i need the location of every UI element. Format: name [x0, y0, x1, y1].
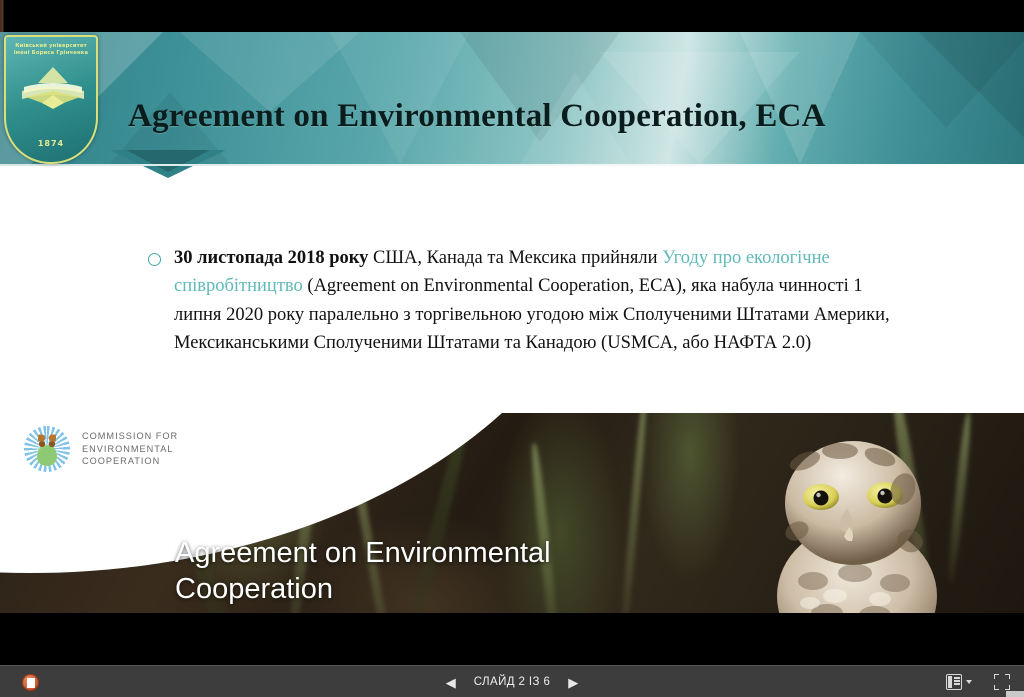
crest-year: 1874	[6, 139, 96, 148]
cec-line-3: COOPERATION	[82, 455, 178, 468]
slideshow-toolbar: P ◀ СЛАЙД 2 ІЗ 6 ▶	[0, 665, 1024, 697]
banner-underline	[0, 164, 1024, 166]
slide-navigation: ◀ СЛАЙД 2 ІЗ 6 ▶	[0, 666, 1024, 697]
banner-notch-inner	[126, 150, 210, 172]
university-crest-logo: Київський університет імені Бориса Грінч…	[4, 35, 98, 164]
crest-text: Київський університет імені Бориса Грінч…	[6, 43, 96, 57]
toolbar-right-tools	[946, 666, 1010, 697]
circle-outline-bullet-icon	[148, 253, 161, 266]
cec-logo-text: COMMISSION FOR ENVIRONMENTAL COOPERATION	[82, 430, 178, 468]
slide-body: 30 листопада 2018 року США, Канада та Ме…	[148, 244, 908, 358]
cec-logo: COMMISSION FOR ENVIRONMENTAL COOPERATION	[24, 426, 178, 472]
slide-header-banner: Agreement on Environmental Cooperation, …	[0, 32, 1024, 164]
cec-butterfly-shape	[38, 434, 56, 447]
chevron-down-icon	[966, 680, 972, 684]
slide-counter-label: СЛАЙД 2 ІЗ 6	[474, 676, 551, 688]
cec-leaf-shape	[37, 446, 57, 466]
previous-slide-button[interactable]: ◀	[446, 676, 456, 689]
bullet-text: 30 листопада 2018 року США, Канада та Ме…	[174, 244, 908, 358]
reading-view-icon	[946, 674, 962, 690]
reading-view-button[interactable]	[946, 674, 972, 690]
bullet-plain-1: США, Канада та Мексика прийняли	[368, 248, 662, 268]
crest-book-icon	[20, 67, 86, 109]
page-title: Agreement on Environmental Cooperation, …	[128, 98, 826, 135]
next-slide-button[interactable]: ▶	[568, 676, 578, 689]
bullet-item: 30 листопада 2018 року США, Канада та Ме…	[148, 244, 908, 358]
bullet-bold-lead: 30 листопада 2018 року	[174, 248, 368, 268]
cec-line-2: ENVIRONMENTAL	[82, 443, 178, 456]
fullscreen-icon[interactable]	[994, 674, 1010, 690]
slide-canvas[interactable]: Agreement on Environmental Cooperation, …	[0, 32, 1024, 620]
photo-caption: Agreement on Environmental Cooperation	[175, 535, 715, 607]
cec-line-1: COMMISSION FOR	[82, 430, 178, 443]
crest-line-2: імені Бориса Грінченка	[6, 50, 96, 57]
cec-butterfly-globe-icon	[24, 426, 70, 472]
letterbox-bottom	[0, 613, 1024, 665]
crest-line-1: Київський університет	[6, 43, 96, 50]
owl-illustration	[735, 431, 985, 620]
banner-triangle-6	[860, 32, 1024, 128]
presentation-window: Agreement on Environmental Cooperation, …	[0, 0, 1024, 697]
resize-grip[interactable]	[1006, 691, 1024, 697]
